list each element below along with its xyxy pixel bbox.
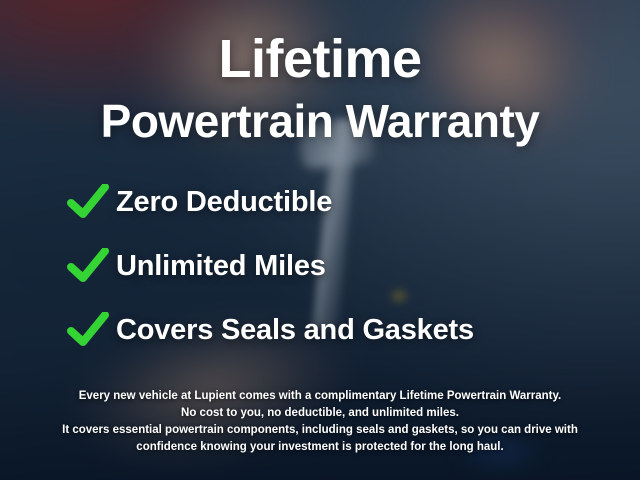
footnote-line-1: Every new vehicle at Lupient comes with …	[30, 388, 610, 405]
feature-list: Zero Deductible Unlimited Miles Covers S…	[0, 170, 640, 362]
headline-line-2: Powertrain Warranty	[101, 98, 540, 144]
footnote-line-2: No cost to you, no deductible, and unlim…	[30, 405, 610, 422]
feature-item-zero-deductible: Zero Deductible	[60, 170, 580, 234]
headline-line-1: Lifetime	[218, 32, 421, 86]
green-check-icon	[60, 184, 116, 220]
green-check-icon	[60, 248, 116, 284]
feature-label: Zero Deductible	[116, 186, 332, 219]
feature-item-unlimited-miles: Unlimited Miles	[60, 234, 580, 298]
green-check-icon	[60, 312, 116, 348]
warranty-banner: Lifetime Powertrain Warranty Zero Deduct…	[0, 0, 640, 480]
feature-label: Unlimited Miles	[116, 250, 326, 283]
feature-label: Covers Seals and Gaskets	[116, 314, 474, 347]
banner-content: Lifetime Powertrain Warranty Zero Deduct…	[0, 0, 640, 480]
footnote-line-4: confidence knowing your investment is pr…	[30, 439, 610, 456]
feature-item-covers-seals-and-gaskets: Covers Seals and Gaskets	[60, 298, 580, 362]
footnote-text: Every new vehicle at Lupient comes with …	[0, 388, 640, 456]
footnote-line-3: It covers essential powertrain component…	[30, 422, 610, 439]
